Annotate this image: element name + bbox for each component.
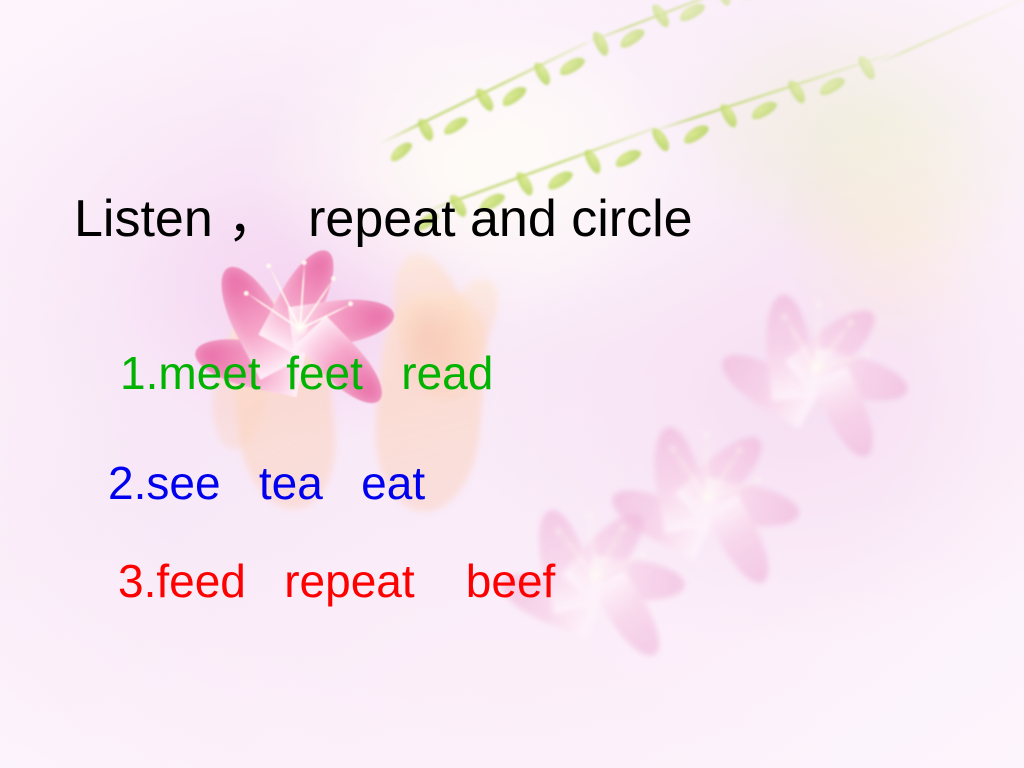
word-line-1: 1.meet feet read	[120, 348, 493, 398]
word-line-2: 2.see tea eat	[108, 458, 425, 508]
page-title: Listen ， repeat and circle	[74, 190, 734, 248]
slide-text-layer: Listen ， repeat and circle 1.meet feet r…	[0, 0, 1024, 768]
word-line-3: 3.feed repeat beef	[118, 556, 555, 606]
slide-canvas: Listen ， repeat and circle 1.meet feet r…	[0, 0, 1024, 768]
